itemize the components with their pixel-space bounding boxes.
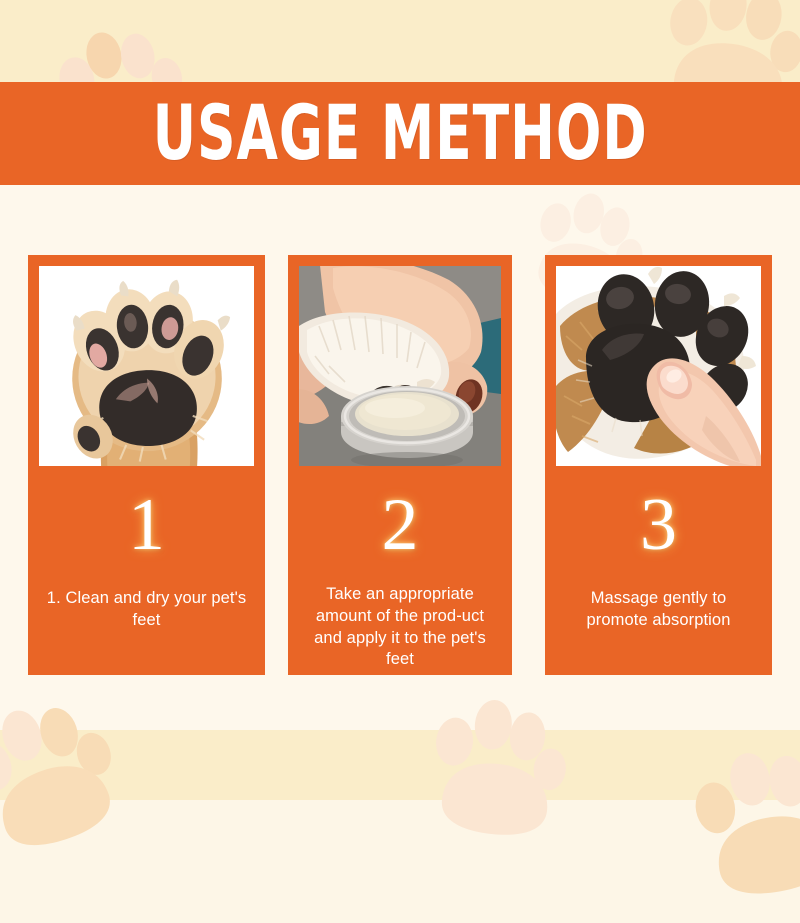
steps-container: 1 1. Clean and dry your pet's feet <box>0 255 800 675</box>
usage-method-banner: USAGE METHOD <box>0 82 800 185</box>
applying-balm-photo <box>299 266 501 466</box>
step-caption: Massage gently to promote absorption <box>556 588 761 632</box>
massaging-paw-photo <box>556 266 761 466</box>
page-title: USAGE METHOD <box>152 96 647 172</box>
paw-print-icon <box>407 682 583 858</box>
paw-print-icon <box>667 727 800 923</box>
step-card-1: 1 1. Clean and dry your pet's feet <box>28 255 265 675</box>
step-caption: 1. Clean and dry your pet's feet <box>39 588 254 632</box>
step-number: 2 <box>382 488 419 562</box>
dog-paw-underside-photo <box>39 266 254 466</box>
step-card-2: 2 Take an appropriate amount of the prod… <box>288 255 512 675</box>
step-number: 3 <box>640 488 677 562</box>
step-caption: Take an appropriate amount of the prod-u… <box>299 584 501 671</box>
step-card-3: 3 Massage gently to promote absorption <box>545 255 772 675</box>
step-number: 1 <box>128 488 165 562</box>
